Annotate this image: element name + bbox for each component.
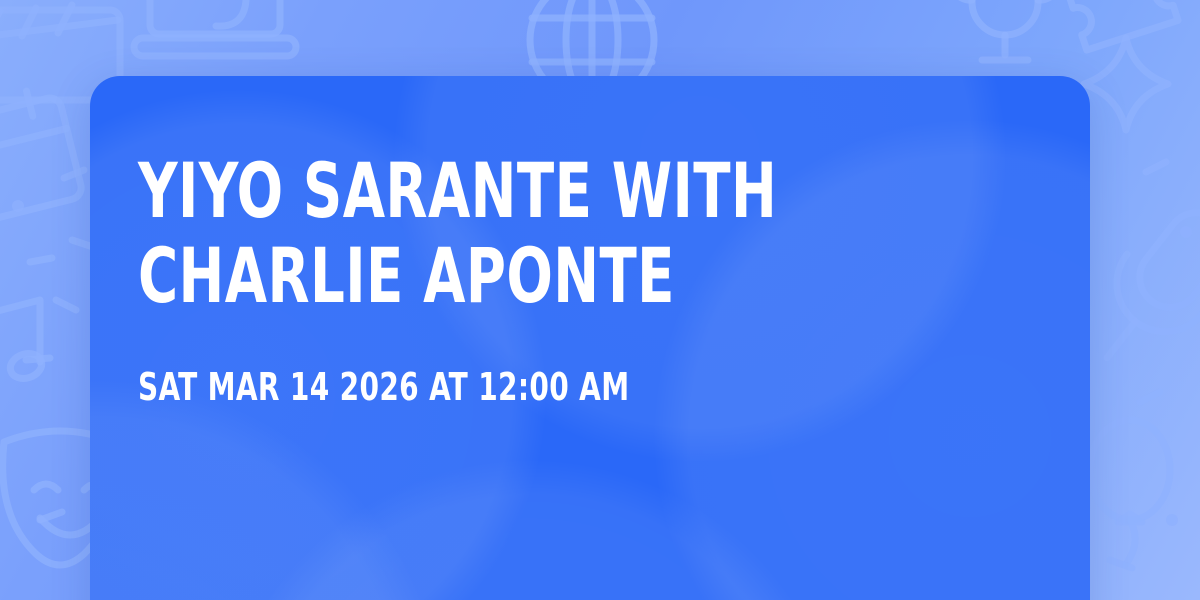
music-note-icon — [0, 300, 45, 396]
trophy-icon — [952, 0, 1058, 60]
event-card[interactable]: Yiyo Sarante with Charlie Aponte Sat Mar… — [90, 76, 1090, 600]
card-blob-d — [210, 456, 850, 600]
ticket-icon — [1068, 0, 1178, 50]
laptop-icon — [134, 0, 296, 56]
event-title: Yiyo Sarante with Charlie Aponte — [138, 148, 852, 318]
event-card-stage: Yiyo Sarante with Charlie Aponte Sat Mar… — [0, 0, 1200, 600]
event-datetime: Sat Mar 14 2026 at 12:00 AM — [138, 366, 869, 410]
calendar-icon — [0, 84, 84, 225]
balloon-icon — [1090, 420, 1170, 564]
event-card-content: Yiyo Sarante with Charlie Aponte Sat Mar… — [138, 148, 1030, 410]
sparkle-icon — [1084, 38, 1168, 130]
